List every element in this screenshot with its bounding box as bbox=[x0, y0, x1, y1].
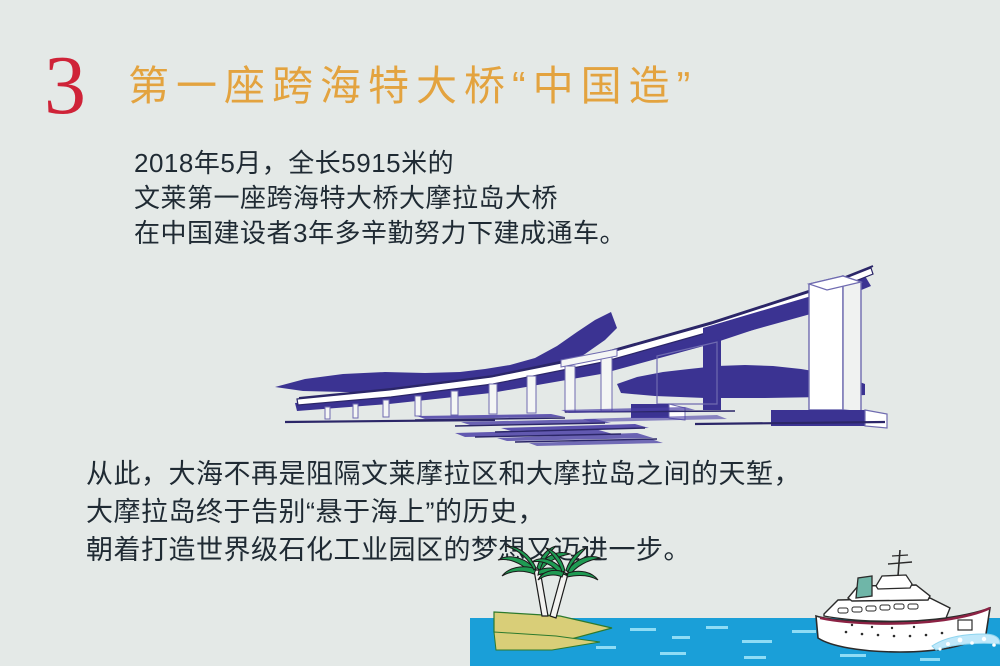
ship-funnel bbox=[856, 576, 872, 598]
ship-mast-yard-2 bbox=[892, 555, 908, 556]
cruise-ship bbox=[816, 550, 1000, 652]
tower-base-plinth-side bbox=[865, 410, 887, 428]
main-tower-side bbox=[843, 276, 861, 412]
poster-canvas: 3 第一座跨海特大桥“中国造” 2018年5月，全长5915米的 文莱第一座跨海… bbox=[0, 0, 1000, 666]
header: 3 第一座跨海特大桥“中国造” bbox=[0, 26, 1000, 126]
main-tower-front bbox=[809, 276, 843, 410]
ship-bow-box bbox=[958, 620, 972, 630]
palm-trees bbox=[498, 546, 600, 618]
bridge-svg bbox=[265, 232, 890, 447]
ship-mast-yard bbox=[888, 562, 912, 564]
bottom-decoration bbox=[0, 546, 1000, 666]
palm-trunk-right bbox=[550, 572, 568, 618]
bridge-illustration bbox=[265, 232, 890, 447]
pylon-crossbeam bbox=[703, 292, 825, 344]
ship-bridge-house bbox=[876, 575, 912, 589]
bottom-scene-svg bbox=[0, 546, 1000, 666]
page-title: 第一座跨海特大桥“中国造” bbox=[128, 60, 697, 112]
section-number: 3 bbox=[44, 44, 86, 128]
